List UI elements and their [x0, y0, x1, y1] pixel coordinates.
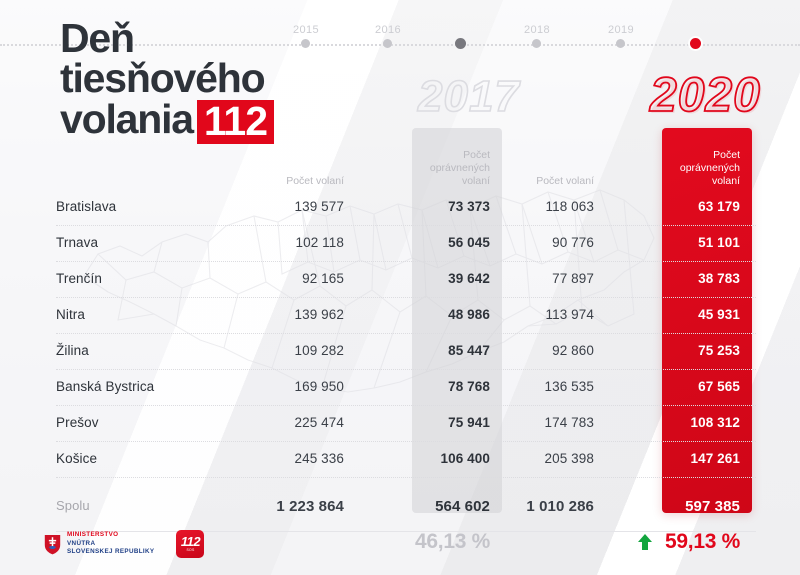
data-table: Počet volaní Počet oprávnených volaní Po… [56, 128, 756, 532]
year-heading-2017: 2017 [418, 72, 520, 122]
ministry-line-2: VNÚTRA [67, 540, 154, 548]
row-2020-valid: 63 179 [640, 199, 740, 214]
percentage-2017: 46,13 % [370, 530, 490, 554]
row-2017-calls: 102 118 [234, 235, 344, 250]
row-2017-valid: 75 941 [390, 415, 490, 430]
row-2017-valid: 48 986 [390, 307, 490, 322]
total-label: Spolu [56, 498, 90, 513]
title-line-2: tiesňového [60, 58, 274, 98]
table-row: Košice 245 336 106 400 205 398 147 261 [56, 442, 756, 478]
header-2020-valid-calls: Počet oprávnených volaní [640, 149, 740, 188]
row-region: Košice [56, 451, 97, 466]
header-2020-calls: Počet volaní [484, 175, 594, 188]
timeline-label-2018: 2018 [524, 24, 550, 36]
table-row: Nitra 139 962 48 986 113 974 45 931 [56, 298, 756, 334]
row-2017-calls: 225 474 [234, 415, 344, 430]
row-region: Trnava [56, 235, 98, 250]
table-header-row: Počet volaní Počet oprávnených volaní Po… [56, 128, 756, 190]
row-2020-calls: 174 783 [484, 415, 594, 430]
row-2020-calls: 118 063 [484, 199, 594, 214]
page-title: Deň tiesňového volania112 [60, 18, 274, 142]
row-2020-valid: 45 931 [640, 307, 740, 322]
row-2020-valid: 38 783 [640, 271, 740, 286]
logo-112-sub: SOS [186, 549, 194, 552]
ministry-line-1: MINISTERSTVO [67, 531, 154, 539]
row-2017-valid: 56 045 [390, 235, 490, 250]
row-region: Banská Bystrica [56, 379, 154, 394]
row-2020-valid: 75 253 [640, 343, 740, 358]
header-2017-valid-calls: Počet oprávnených volaní [390, 149, 490, 188]
timeline-dot-2020[interactable] [690, 38, 701, 49]
row-2017-calls: 139 577 [234, 199, 344, 214]
row-2020-calls: 136 535 [484, 379, 594, 394]
year-heading-2020: 2020 [650, 68, 761, 123]
timeline-dot-2019[interactable] [616, 39, 625, 48]
row-2020-valid: 147 261 [640, 451, 740, 466]
row-2017-valid: 106 400 [390, 451, 490, 466]
row-region: Žilina [56, 343, 89, 358]
timeline-dot-2018[interactable] [532, 39, 541, 48]
table-row: Žilina 109 282 85 447 92 860 75 253 [56, 334, 756, 370]
total-2020-calls: 1 010 286 [484, 498, 594, 515]
table-row: Bratislava 139 577 73 373 118 063 63 179 [56, 190, 756, 226]
footer-logos: MINISTERSTVO VNÚTRA SLOVENSKEJ REPUBLIKY… [44, 530, 204, 558]
ministry-line-3: SLOVENSKEJ REPUBLIKY [67, 548, 154, 556]
table-row: Prešov 225 474 75 941 174 783 108 312 [56, 406, 756, 442]
total-2017-valid: 564 602 [390, 498, 490, 515]
row-2017-calls: 92 165 [234, 271, 344, 286]
row-region: Nitra [56, 307, 85, 322]
row-2020-calls: 113 974 [484, 307, 594, 322]
row-2017-calls: 109 282 [234, 343, 344, 358]
logo-112-number: 112 [181, 535, 200, 548]
ministry-logo-text: MINISTERSTVO VNÚTRA SLOVENSKEJ REPUBLIKY [67, 531, 154, 556]
row-2017-valid: 85 447 [390, 343, 490, 358]
timeline-dot-2015[interactable] [301, 39, 310, 48]
row-2017-valid: 39 642 [390, 271, 490, 286]
row-region: Prešov [56, 415, 99, 430]
row-region: Bratislava [56, 199, 116, 214]
timeline-label-2015: 2015 [293, 24, 319, 36]
row-2020-valid: 51 101 [640, 235, 740, 250]
ministry-logo: MINISTERSTVO VNÚTRA SLOVENSKEJ REPUBLIKY [44, 531, 154, 556]
title-line-1: Deň [60, 18, 274, 58]
row-2017-calls: 139 962 [234, 307, 344, 322]
row-2017-valid: 73 373 [390, 199, 490, 214]
table-row: Banská Bystrica 169 950 78 768 136 535 6… [56, 370, 756, 406]
timeline-label-2019: 2019 [608, 24, 634, 36]
header-2017-calls: Počet volaní [234, 175, 344, 188]
logo-112: 112 SOS [176, 530, 204, 558]
row-2017-calls: 245 336 [234, 451, 344, 466]
row-2020-calls: 92 860 [484, 343, 594, 358]
row-2020-calls: 205 398 [484, 451, 594, 466]
infographic-root: 2015 2016 2018 2019 Deň tiesňového volan… [0, 0, 800, 575]
timeline-dot-2016[interactable] [383, 39, 392, 48]
percentage-2020: 59,13 % [620, 530, 740, 554]
total-2020-valid: 597 385 [640, 498, 740, 515]
total-2017-calls: 1 223 864 [234, 498, 344, 515]
timeline-label-2016: 2016 [375, 24, 401, 36]
timeline-dot-2017[interactable] [455, 38, 466, 49]
row-region: Trenčín [56, 271, 102, 286]
row-2020-calls: 90 776 [484, 235, 594, 250]
row-2020-calls: 77 897 [484, 271, 594, 286]
row-2017-valid: 78 768 [390, 379, 490, 394]
row-2020-valid: 108 312 [640, 415, 740, 430]
row-2017-calls: 169 950 [234, 379, 344, 394]
slovakia-coat-of-arms-icon [44, 534, 61, 555]
table-row: Trnava 102 118 56 045 90 776 51 101 [56, 226, 756, 262]
table-total-row: Spolu 1 223 864 564 602 1 010 286 597 38… [56, 478, 756, 532]
row-2020-valid: 67 565 [640, 379, 740, 394]
table-row: Trenčín 92 165 39 642 77 897 38 783 [56, 262, 756, 298]
